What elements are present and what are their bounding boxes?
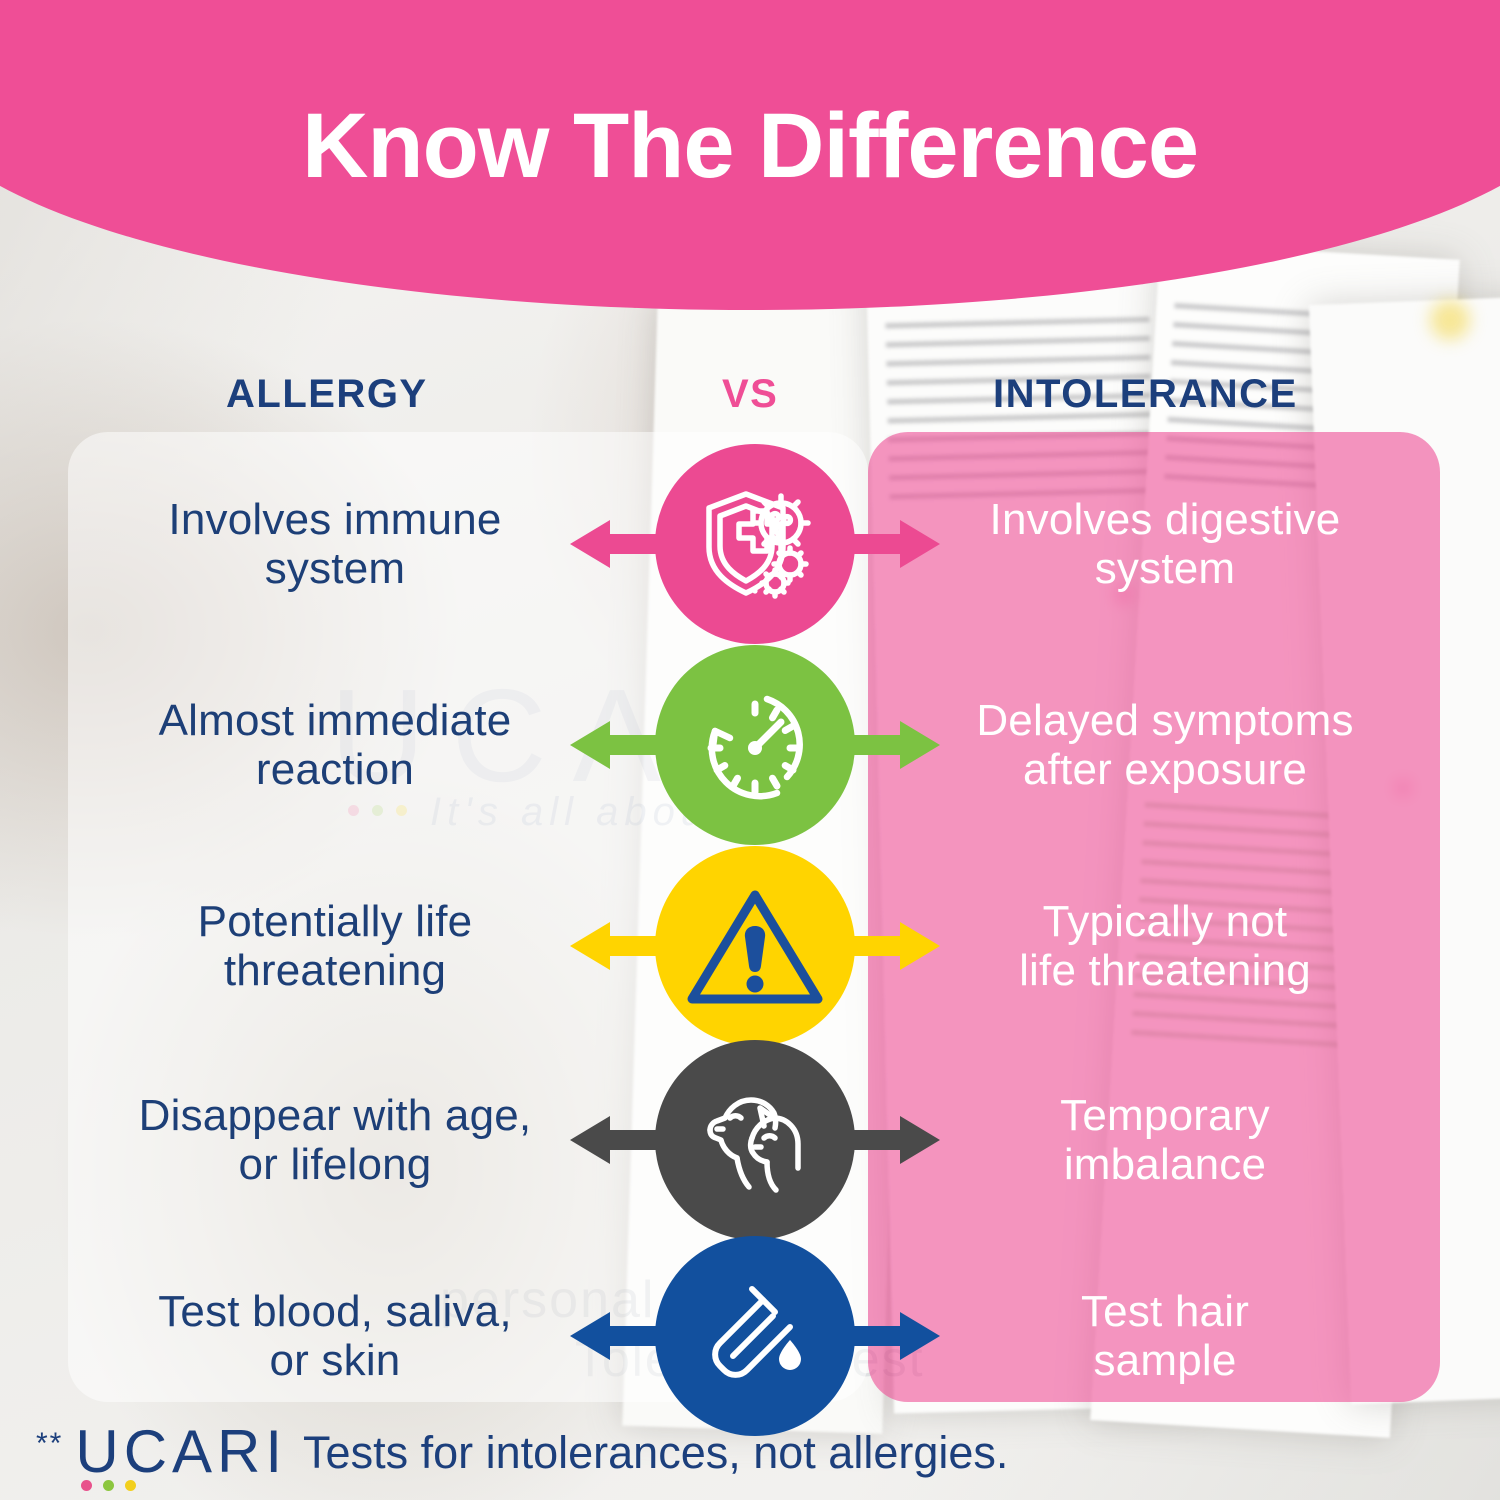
- intolerance-row-text: Typically notlife threatening: [930, 848, 1400, 1044]
- comparison-row: Involves immunesystem Involves digestive…: [0, 446, 1500, 642]
- dog-cat-icon: [655, 1040, 855, 1240]
- allergy-row-text: Potentially lifethreatening: [100, 848, 570, 1044]
- footer-tagline: Tests for intolerances, not allergies.: [303, 1430, 1008, 1475]
- ucari-logo[interactable]: UCARI: [75, 1422, 287, 1482]
- comparison-row: Potentially lifethreatening Typically no…: [0, 848, 1500, 1044]
- ucari-logo-text: UCARI: [75, 1418, 287, 1485]
- row-connector: [570, 446, 940, 642]
- row-connector: [570, 1042, 940, 1238]
- shield-virus-icon: [655, 444, 855, 644]
- allergy-row-text: Disappear with age,or lifelong: [100, 1042, 570, 1238]
- row-connector: [570, 647, 940, 843]
- comparison-row: Disappear with age,or lifelong Temporary…: [0, 1042, 1500, 1238]
- intolerance-row-text: Temporaryimbalance: [930, 1042, 1400, 1238]
- infographic-canvas: UCARI It's all about personal Tolerance …: [0, 0, 1500, 1500]
- allergy-row-text: Almost immediatereaction: [100, 647, 570, 843]
- allergy-row-text: Involves immunesystem: [100, 446, 570, 642]
- footer-bar: ** UCARI Tests for intolerances, not all…: [0, 1404, 1500, 1500]
- intolerance-row-text: Delayed symptomsafter exposure: [930, 647, 1400, 843]
- ucari-logo-dots: [81, 1480, 136, 1491]
- clock-timer-icon: [655, 645, 855, 845]
- row-connector: [570, 848, 940, 1044]
- intolerance-row-text: Involves digestivesystem: [930, 446, 1400, 642]
- comparison-row: Almost immediatereaction Delayed symptom…: [0, 647, 1500, 843]
- warning-triangle-icon: [655, 846, 855, 1046]
- asterisk-icon: **: [36, 1429, 63, 1459]
- comparison-rows: Involves immunesystem Involves digestive…: [0, 0, 1500, 1500]
